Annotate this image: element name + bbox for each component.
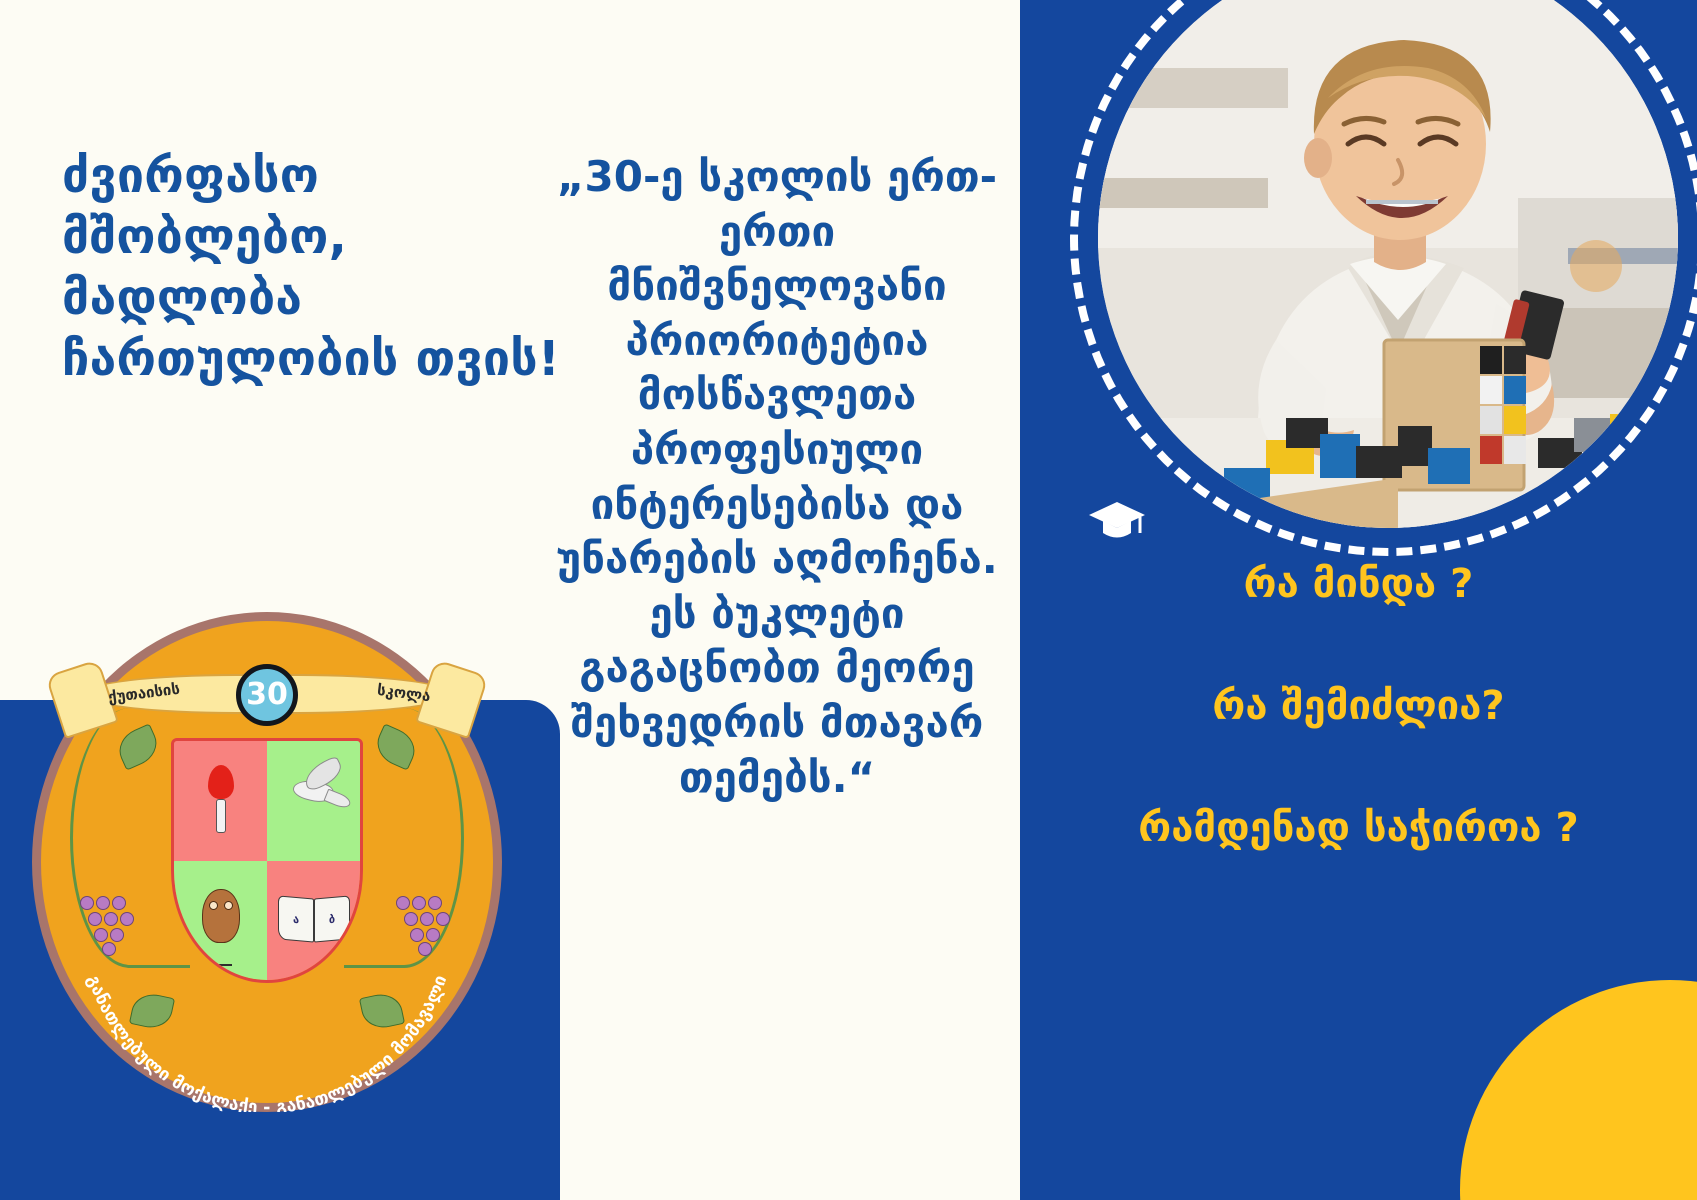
graduation-cap-icon: [1088, 500, 1146, 544]
school-emblem: ქუთაისის სკოლა 30: [32, 612, 502, 1112]
right-blue-pane: რა მინდა ? რა შემიძლია? რამდენად საჭიროა…: [1020, 0, 1697, 1200]
question-item-3: რამდენად საჭიროა ?: [1020, 804, 1697, 852]
quote-paragraph: „30-ე სკოლის ერთ-ერთი მნიშვნელოვანი პრიო…: [542, 150, 1012, 805]
emblem-motto: განათლებული მოქალაქე - განათლებული მომავ…: [32, 612, 502, 1112]
left-content-pane: ძვირფასო მშობლებო, მადლობა ჩართულობის თვ…: [0, 0, 1020, 1200]
question-item-1: რა მინდა ?: [1020, 560, 1697, 608]
question-item-2: რა შემიძლია?: [1020, 682, 1697, 730]
questions-list: რა მინდა ? რა შემიძლია? რამდენად საჭიროა…: [1020, 560, 1697, 926]
bottom-right-yellow-circle: [1460, 980, 1697, 1200]
poster-canvas: ძვირფასო მშობლებო, მადლობა ჩართულობის თვ…: [0, 0, 1697, 1200]
emblem-motto-text: განათლებული მოქალაქე - განათლებული მომავ…: [83, 973, 452, 1112]
page-headline: ძვირფასო მშობლებო, მადლობა ჩართულობის თვ…: [62, 146, 562, 390]
svg-text:განათლებული მოქალაქე - განათ: განათლებული მოქალაქე - განათლებული მომავ…: [83, 973, 452, 1112]
